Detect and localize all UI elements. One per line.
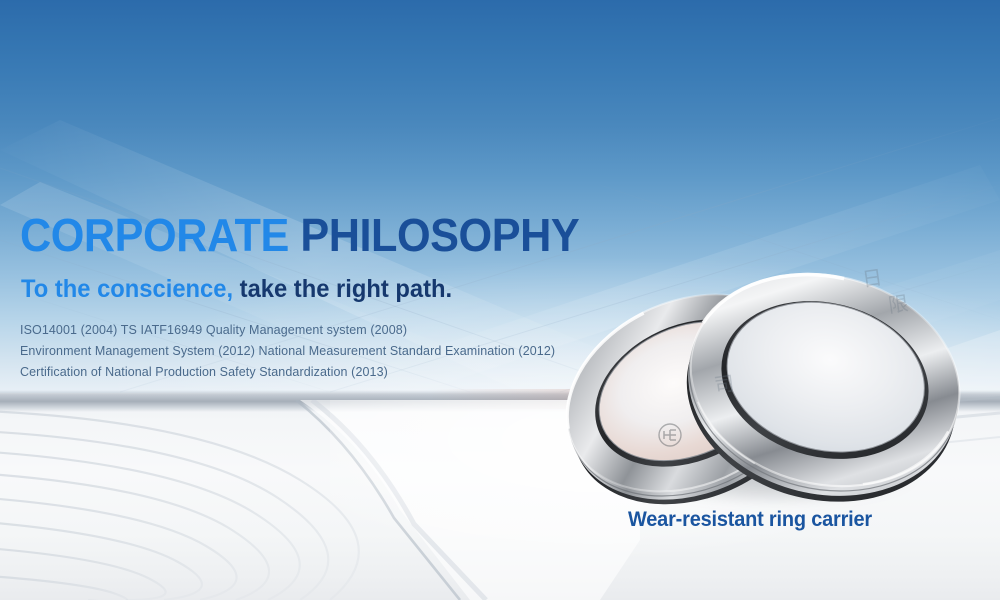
subtitle-part-2: take the right path. <box>240 275 452 303</box>
watermark-char-2: 限 <box>886 287 912 319</box>
watermark-char-1: 日 <box>860 261 886 293</box>
certification-line: Environment Management System (2012) Nat… <box>20 341 620 362</box>
certification-list: ISO14001 (2004) TS IATF16949 Quality Man… <box>20 320 620 383</box>
product-caption: Wear-resistant ring carrier <box>628 508 872 532</box>
certification-line: ISO14001 (2004) TS IATF16949 Quality Man… <box>20 320 620 341</box>
headline-word-philosophy: PHILOSOPHY <box>300 209 579 261</box>
subtitle-part-1: To the conscience, <box>21 275 233 303</box>
headline-word-corporate: CORPORATE <box>20 209 289 261</box>
page-title: CORPORATE PHILOSOPHY <box>20 212 579 258</box>
certification-line: Certification of National Production Saf… <box>20 362 620 383</box>
page-subtitle: To the conscience, take the right path. <box>21 277 452 302</box>
watermark-char-3: 司 <box>712 367 738 399</box>
corporate-philosophy-banner: 日 限 司 CORPORATE PHILOSOPHY To the consci… <box>0 0 1000 600</box>
